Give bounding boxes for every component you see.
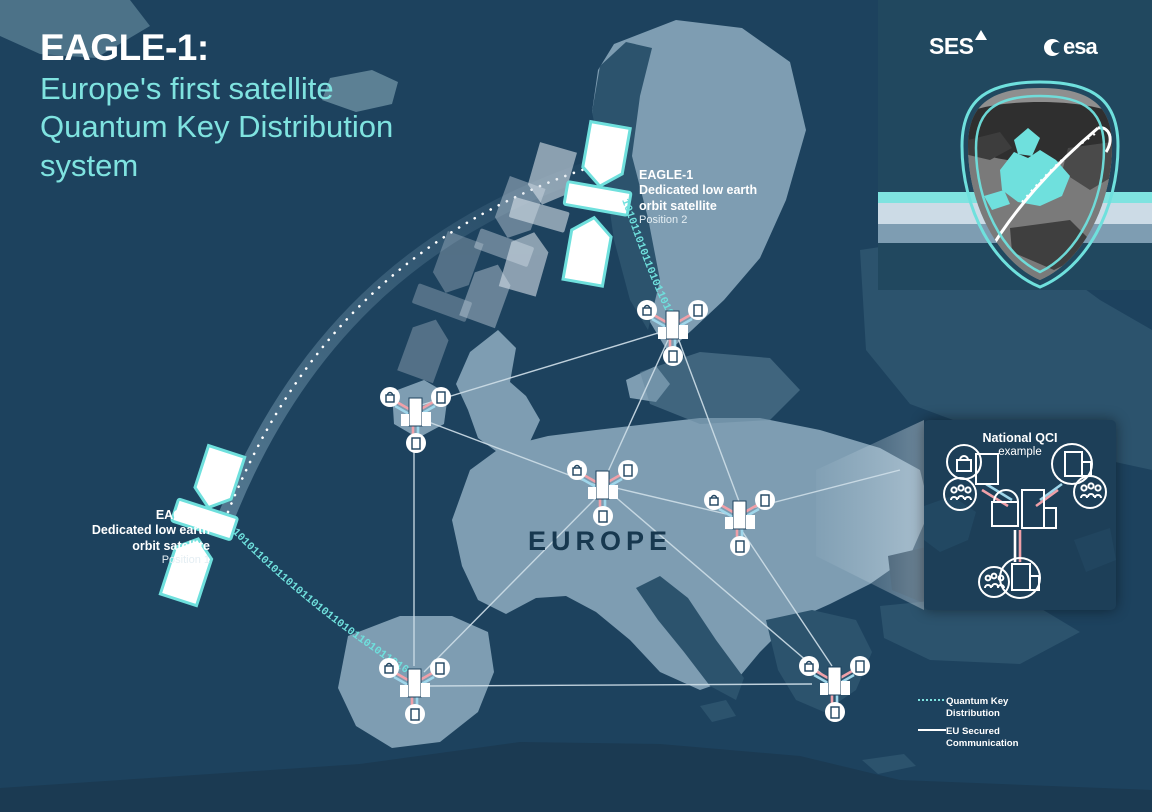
inset-hub-building [1022, 490, 1044, 528]
node-datacenter-icon [596, 471, 609, 499]
infographic-canvas: 1010110101101011010110101101011010110101… [0, 0, 1152, 812]
node-office-circle [430, 658, 450, 678]
ses-triangle-icon [975, 30, 987, 40]
legend-label-qkd: Quantum Key Distribution [946, 696, 1008, 719]
satellite-desc-line-2: orbit satellite [20, 539, 210, 554]
land-sicily [700, 700, 736, 722]
land-crete [862, 754, 916, 774]
node-lock-circle [379, 658, 399, 678]
node-wing-right-icon [609, 485, 618, 499]
legend-qkd-line-2: Distribution [946, 708, 1008, 720]
node-lock-circle [380, 387, 400, 407]
inset-map-watermark-2 [1074, 528, 1116, 572]
node-city-circle [663, 346, 683, 366]
subtitle-line-1: Europe's first satellite [40, 70, 560, 108]
inset-subtitle-text: example [924, 446, 1116, 458]
esa-logo-text: esa [1063, 34, 1097, 60]
ses-logo-text: SES [929, 33, 974, 59]
satellite-label-position-2: EAGLE-1 Dedicated low earth orbit satell… [639, 168, 757, 227]
node-datacenter-icon [409, 398, 422, 426]
satellite-name: EAGLE-1 [20, 508, 210, 523]
land-baltic-shade [640, 352, 800, 424]
page-subtitle: Europe's first satellite Quantum Key Dis… [40, 70, 560, 185]
node-city-circle [406, 433, 426, 453]
node-datacenter-icon [408, 669, 421, 697]
national-qci-inset[interactable]: National QCI example [924, 420, 1116, 610]
esa-crescent-icon [1044, 39, 1061, 56]
satellite-name: EAGLE-1 [639, 168, 757, 183]
satellite-position-label: Position 1 [20, 554, 210, 567]
node-office-circle [688, 300, 708, 320]
satellite-ghost-panel-bottom [499, 227, 553, 297]
node-wing-right-icon [421, 683, 430, 697]
inset-title-text: National QCI [924, 431, 1116, 445]
satellite-desc-line-1: Dedicated low earth [20, 523, 210, 538]
legend-item-qkd: Quantum Key Distribution [918, 696, 1068, 719]
inset-people-icon-left [951, 485, 971, 500]
satellite-position-label: Position 2 [639, 214, 757, 227]
node-office-circle [850, 656, 870, 676]
node-lock-circle [567, 460, 587, 480]
page-title: EAGLE-1: [40, 28, 560, 68]
satellite-desc-line-1: Dedicated low earth [639, 183, 757, 198]
inset-link-pink-right [1036, 490, 1058, 506]
node-office-circle [755, 490, 775, 510]
node-city-circle [730, 536, 750, 556]
node-city-circle [593, 506, 613, 526]
node-office-circle [431, 387, 451, 407]
node-datacenter-icon [828, 667, 841, 695]
legend-eu-line-2: Communication [946, 738, 1019, 750]
node-wing-right-icon [841, 681, 850, 695]
node-city-circle [405, 704, 425, 724]
brand-panel [878, 0, 1152, 290]
satellite-ghost-panel-bottom [397, 313, 454, 383]
dotted-line-icon [918, 699, 946, 701]
inset-hub-annex [1044, 508, 1056, 528]
map-region-label: EUROPE [528, 526, 672, 557]
node-datacenter-icon [666, 311, 679, 339]
satellite-panel-bottom [563, 214, 614, 286]
legend-item-eu-secured: EU Secured Communication [918, 726, 1068, 749]
title-block: EAGLE-1: Europe's first satellite Quantu… [40, 28, 560, 185]
solid-line-icon [918, 729, 946, 731]
inset-people-icon-bottom [985, 574, 1004, 588]
node-wing-left-icon [725, 517, 733, 529]
satellite-label-position-1: EAGLE-1 Dedicated low earth orbit satell… [20, 508, 210, 567]
node-wing-right-icon [746, 515, 755, 529]
node-wing-left-icon [400, 685, 408, 697]
node-lock-circle [704, 490, 724, 510]
node-wing-right-icon [679, 325, 688, 339]
inset-people-circle-bottom [979, 567, 1009, 597]
accent-bar-teal [878, 192, 1152, 203]
node-wing-left-icon [588, 487, 596, 499]
node-office-circle [618, 460, 638, 480]
inset-people-circle-right [1074, 476, 1106, 508]
esa-logo[interactable]: esa [1044, 34, 1097, 60]
node-datacenter-icon [733, 501, 746, 529]
node-wing-left-icon [401, 414, 409, 426]
subtitle-line-2: Quantum Key Distribution [40, 108, 560, 146]
accent-bar-light [878, 203, 1152, 224]
inset-heading: National QCI example [924, 431, 1116, 458]
ses-logo[interactable]: SES [929, 33, 987, 60]
inset-bottom-building [1012, 564, 1030, 590]
inset-lock-icon [957, 460, 971, 471]
land-great-britain [456, 330, 540, 454]
satellite-desc-line-2: orbit satellite [639, 199, 757, 214]
legend-qkd-line-1: Quantum Key [946, 696, 1008, 708]
subtitle-line-3: system [40, 147, 560, 185]
inset-people-icon-right [1081, 483, 1101, 498]
accent-bar-slate [878, 224, 1152, 243]
node-lock-circle [799, 656, 819, 676]
legend-eu-line-1: EU Secured [946, 726, 1019, 738]
node-wing-left-icon [658, 327, 666, 339]
legend: Quantum Key Distribution EU Secured Comm… [918, 696, 1068, 757]
node-lock-circle [637, 300, 657, 320]
legend-label-eu-secured: EU Secured Communication [946, 726, 1019, 749]
node-city-circle [825, 702, 845, 722]
node-wing-left-icon [820, 683, 828, 695]
inset-map-watermark [924, 496, 976, 552]
node-wing-right-icon [422, 412, 431, 426]
